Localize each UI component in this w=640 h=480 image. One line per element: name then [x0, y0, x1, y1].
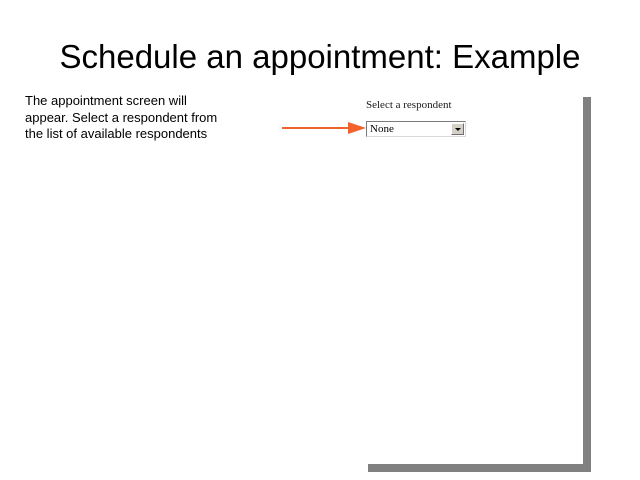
body-text: The appointment screen will appear. Sele… [25, 93, 253, 143]
screenshot-shadow-bottom [368, 464, 591, 472]
body-text-line: the list of available respondents [25, 126, 253, 143]
arrow-right-icon [282, 118, 366, 138]
chevron-down-icon [455, 128, 461, 131]
respondent-select-label: Select a respondent [366, 99, 452, 112]
embedded-screenshot [362, 93, 583, 464]
body-text-line: The appointment screen will [25, 93, 253, 110]
body-text-line: appear. Select a respondent from [25, 110, 253, 127]
page-title: Schedule an appointment: Example [0, 38, 640, 76]
respondent-dropdown[interactable]: None [366, 121, 466, 137]
screenshot-shadow-right [583, 97, 591, 472]
dropdown-toggle-button[interactable] [451, 123, 464, 135]
slide-canvas: Schedule an appointment: Example The app… [0, 0, 640, 480]
respondent-dropdown-value: None [370, 123, 394, 136]
